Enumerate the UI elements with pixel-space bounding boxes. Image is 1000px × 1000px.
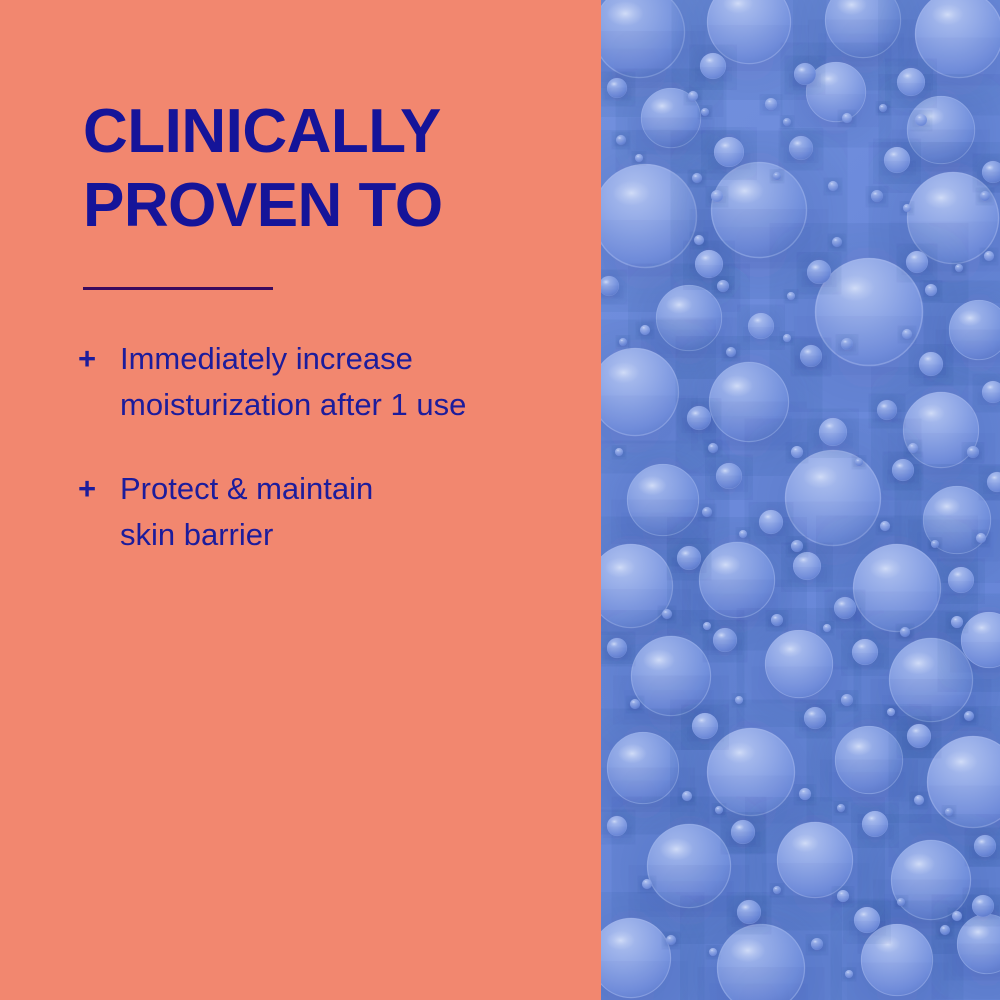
plus-icon: + (78, 466, 96, 512)
marketing-banner: CLINICALLY PROVEN TO + Immediately incre… (0, 0, 1000, 1000)
plus-icon: + (78, 336, 96, 382)
benefit-text: Protect & maintain skin barrier (120, 466, 588, 558)
benefits-list: + Immediately increase moisturization af… (78, 336, 588, 558)
droplet-texture-image (601, 0, 1000, 1000)
headline-line-2: PROVEN TO (83, 169, 583, 243)
headline-line-1: CLINICALLY (83, 95, 583, 169)
list-item: + Protect & maintain skin barrier (78, 466, 588, 558)
headline-divider (83, 287, 273, 290)
page-title: CLINICALLY PROVEN TO (83, 95, 583, 243)
list-item: + Immediately increase moisturization af… (78, 336, 588, 428)
benefit-text: Immediately increase moisturization afte… (120, 336, 588, 428)
copy-panel: CLINICALLY PROVEN TO + Immediately incre… (0, 0, 601, 1000)
water-droplets-illustration (601, 0, 1000, 1000)
